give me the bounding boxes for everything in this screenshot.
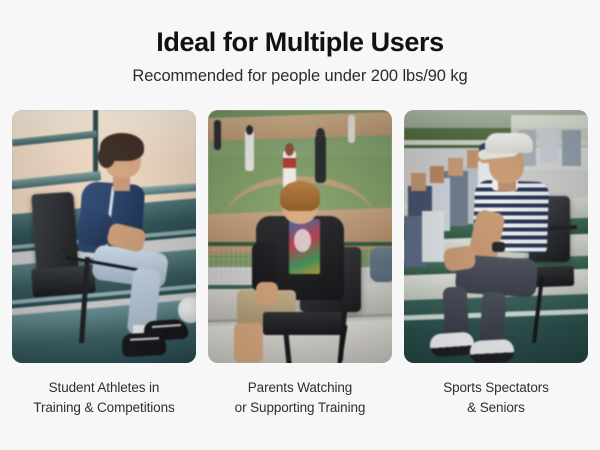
caption-student-athletes: Student Athletes in Training & Competiti…	[12, 378, 196, 417]
caption-line-2: & Seniors	[404, 398, 588, 418]
page-title: Ideal for Multiple Users	[0, 28, 600, 58]
promo-feature-panel: Ideal for Multiple Users Recommended for…	[0, 0, 600, 450]
caption-line-2: Training & Competitions	[12, 398, 196, 418]
image-panel-row	[12, 110, 588, 363]
page-subtitle: Recommended for people under 200 lbs/90 …	[0, 67, 600, 87]
stadium-seat-backrest	[31, 192, 79, 276]
use-case-image-sports-spectators	[404, 110, 588, 363]
use-case-image-parents-watching	[208, 110, 392, 363]
photo-scene-dusk-bleachers	[12, 110, 196, 363]
photo-scene-ballfield	[208, 110, 392, 363]
caption-parents-watching: Parents Watching or Supporting Training	[208, 378, 392, 417]
caption-line-1: Student Athletes in	[49, 380, 160, 395]
caption-line-1: Sports Spectators	[443, 380, 549, 395]
stadium-seat-cushion	[263, 312, 346, 335]
caption-line-1: Parents Watching	[248, 380, 352, 395]
use-case-image-student-athletes	[12, 110, 196, 363]
caption-line-2: or Supporting Training	[208, 398, 392, 418]
caption-sports-spectators: Sports Spectators & Seniors	[404, 378, 588, 417]
header: Ideal for Multiple Users Recommended for…	[0, 0, 600, 86]
caption-row: Student Athletes in Training & Competiti…	[12, 378, 588, 417]
photo-scene-grandstand	[404, 110, 588, 363]
white-cap	[485, 133, 533, 153]
